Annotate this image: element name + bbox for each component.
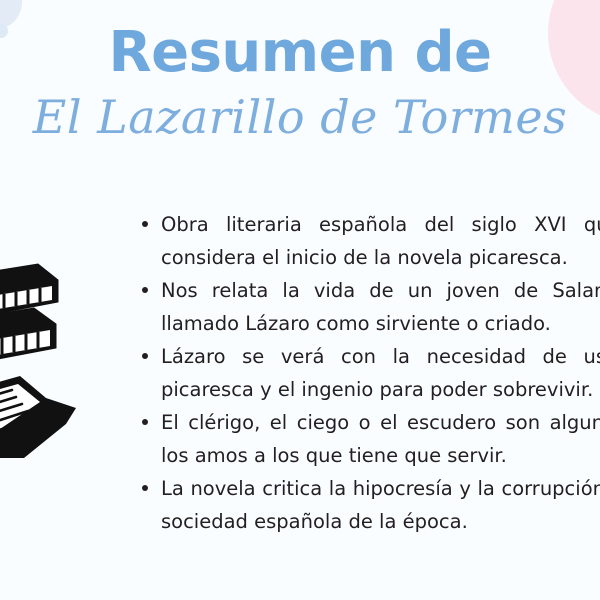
list-item-text: Obra literaria española del siglo XVI qu… [161,213,600,269]
list-item: Obra literaria española del siglo XVI qu… [140,208,600,274]
list-item: Nos relata la vida de un joven de Salama… [140,274,600,340]
bullet-dot-icon [142,485,148,491]
summary-bullet-list: Obra literaria española del siglo XVI qu… [140,208,600,538]
list-item: El clérigo, el ciego o el escudero son a… [140,406,600,472]
list-item-text: Lázaro se verá con la necesidad de usar … [161,345,600,401]
bullet-dot-icon [142,419,148,425]
list-item: Lázaro se verá con la necesidad de usar … [140,340,600,406]
list-item-text: La novela critica la hipocresía y la cor… [161,477,600,533]
bullet-dot-icon [142,353,148,359]
bullet-dot-icon [142,221,148,227]
list-item-text: Nos relata la vida de un joven de Salama… [161,279,600,335]
bullet-dot-icon [142,287,148,293]
page-title: Resumen de [0,22,600,84]
list-item: La novela critica la hipocresía y la cor… [140,472,600,538]
poster-canvas: Resumen de El Lazarillo de Tormes Obra l… [0,0,600,600]
heading-block: Resumen de El Lazarillo de Tormes [0,22,600,144]
list-item-text: El clérigo, el ciego o el escudero son a… [161,411,600,467]
stacked-books-icon [0,258,124,458]
page-subtitle: El Lazarillo de Tormes [0,90,600,144]
